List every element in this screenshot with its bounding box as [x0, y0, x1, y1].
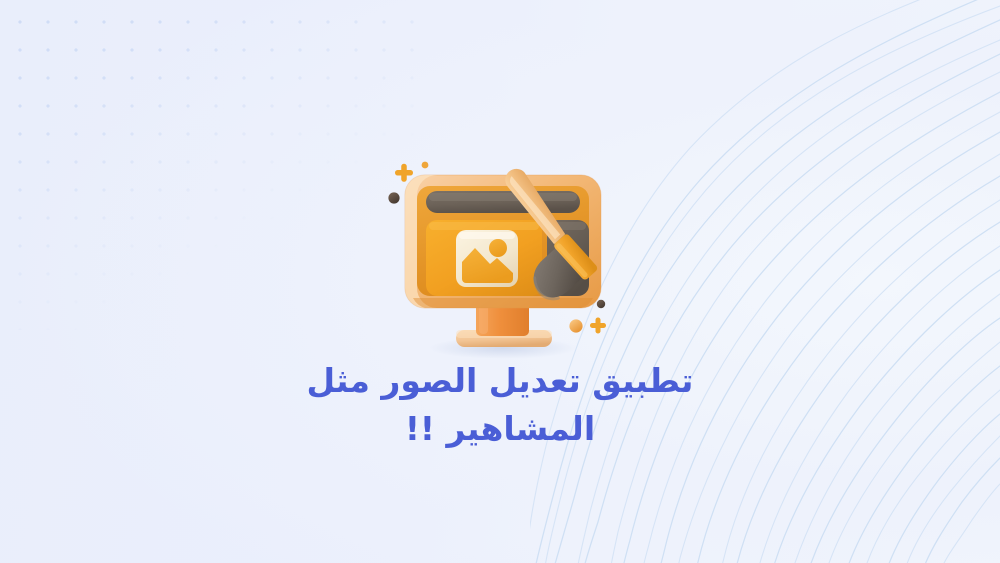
page-title: تطبيق تعديل الصور مثل المشاهير !! — [0, 358, 1000, 453]
decoration-sparkle-plus-top-left — [395, 164, 413, 182]
monitor-toolbar-bar — [426, 191, 580, 213]
decoration-sphere-dark-left — [388, 192, 399, 203]
decoration-sparkle-plus-bottom-right — [590, 318, 606, 334]
slide-canvas: تطبيق تعديل الصور مثل المشاهير !! — [0, 0, 1000, 563]
thumbnail-sun — [489, 239, 507, 257]
photo-editing-monitor-illustration — [383, 148, 621, 363]
page-title-line-1: تطبيق تعديل الصور مثل — [0, 358, 1000, 405]
image-thumbnail-icon — [456, 230, 518, 287]
decoration-sphere-orange-bottom — [569, 319, 582, 332]
halftone-dot-grid-pattern — [0, 0, 420, 330]
decoration-sphere-dark-right — [597, 300, 605, 308]
page-title-line-2: المشاهير !! — [0, 406, 1000, 453]
decoration-dot-orange-top — [422, 162, 429, 169]
